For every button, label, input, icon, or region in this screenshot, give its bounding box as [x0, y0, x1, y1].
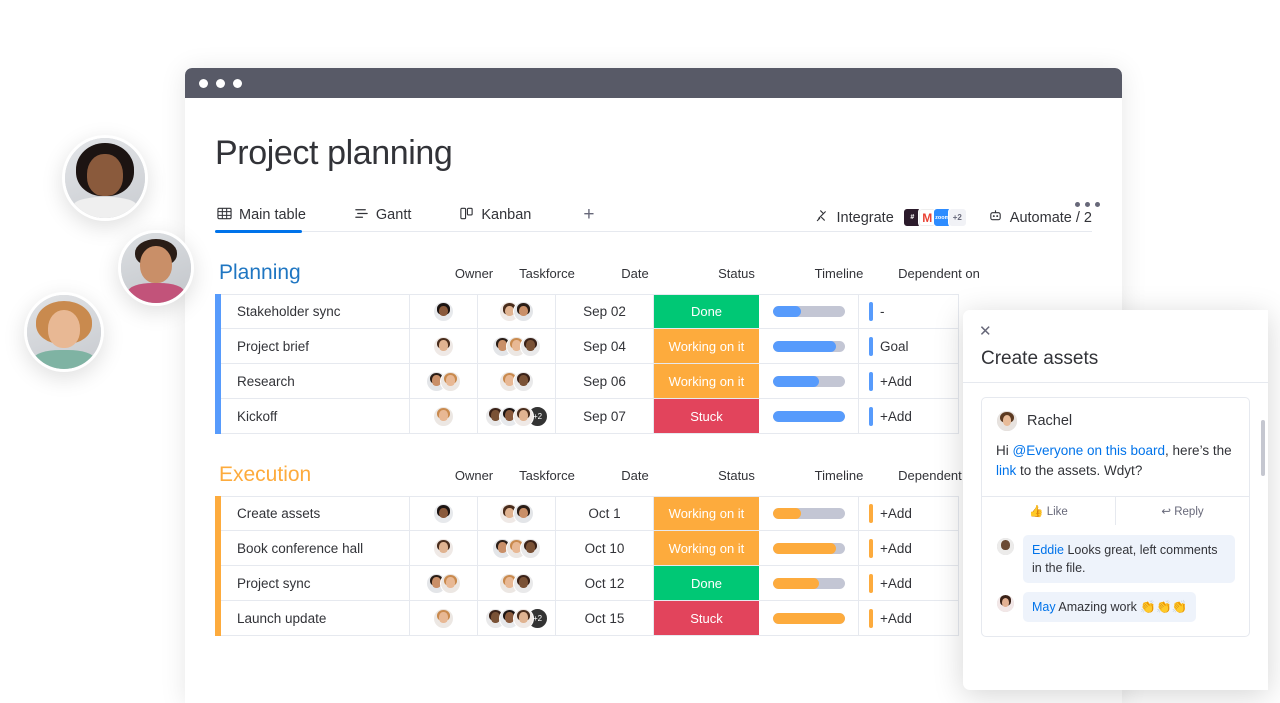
list-item: Eddie Looks great, left comments in the … [996, 535, 1235, 583]
avatar [433, 503, 454, 524]
dependent-value: Goal [880, 339, 909, 354]
row-name[interactable]: Book conference hall [221, 531, 410, 566]
table-row[interactable]: ResearchSep 06Working on it+Add [215, 364, 1092, 399]
divider [963, 382, 1268, 383]
group-header: PlanningOwnerTaskforceDateStatusTimeline… [215, 258, 1092, 288]
avatar [520, 336, 541, 357]
tab-label: Gantt [376, 207, 411, 223]
group-title[interactable]: Execution [215, 463, 440, 487]
column-header-date[interactable]: Date [586, 266, 684, 281]
floating-avatars [0, 0, 230, 400]
cell-date[interactable]: Oct 1 [556, 496, 654, 531]
group-header: ExecutionOwnerTaskforceDateStatusTimelin… [215, 460, 1092, 490]
avatar [433, 336, 454, 357]
table-row[interactable]: Stakeholder syncSep 02Done- [215, 294, 1092, 329]
reply-button[interactable]: ↩ Reply [1115, 497, 1249, 525]
table-row[interactable]: Project syncOct 12Done+Add [215, 566, 1092, 601]
avatar-stack[interactable] [426, 573, 461, 594]
cell-date[interactable]: Oct 10 [556, 531, 654, 566]
group-rows: Stakeholder syncSep 02Done-Project brief… [215, 294, 1092, 434]
cell-taskforce[interactable] [478, 566, 556, 601]
integration-avatars[interactable]: # M zoom +2 [903, 208, 967, 227]
dependency-color-bar [869, 539, 873, 558]
cell-taskforce[interactable]: +2 [478, 399, 556, 434]
row-name[interactable]: Stakeholder sync [221, 294, 410, 329]
cell-owner[interactable] [410, 399, 478, 434]
status-badge[interactable]: Done [654, 566, 759, 601]
cell-owner[interactable] [410, 329, 478, 364]
cell-owner[interactable] [410, 496, 478, 531]
avatar [996, 537, 1015, 556]
thumbs-up-icon: 👍 [1029, 506, 1043, 518]
cell-owner[interactable] [410, 601, 478, 636]
avatar [996, 410, 1018, 432]
replies-list: Eddie Looks great, left comments in the … [982, 525, 1249, 636]
status-badge[interactable]: Working on it [654, 364, 759, 399]
column-header-timeline[interactable]: Timeline [789, 266, 889, 281]
dependency-color-bar [869, 504, 873, 523]
status-badge[interactable]: Working on it [654, 496, 759, 531]
cell-taskforce[interactable] [478, 531, 556, 566]
column-header-taskforce[interactable]: Taskforce [508, 266, 586, 281]
dependency-color-bar [869, 609, 873, 628]
avatar [433, 538, 454, 559]
avatar-stack[interactable] [499, 371, 534, 392]
avatar-stack[interactable] [499, 503, 534, 524]
avatar [433, 608, 454, 629]
kanban-icon [459, 206, 474, 225]
row-name[interactable]: Project sync [221, 566, 410, 601]
post-body: Hi @Everyone on this board, here’s the l… [982, 432, 1249, 496]
avatar-stack[interactable] [433, 503, 454, 524]
tab-label: Main table [239, 207, 306, 223]
table-row[interactable]: Book conference hallOct 10Working on it+… [215, 531, 1092, 566]
timeline-bar [773, 376, 845, 387]
asset-link[interactable]: link [996, 463, 1016, 478]
column-header-status[interactable]: Status [684, 468, 789, 483]
popup-scrollbar[interactable] [1261, 420, 1265, 476]
cell-taskforce[interactable] [478, 496, 556, 531]
reply-label: Reply [1174, 506, 1203, 518]
row-name[interactable]: Kickoff [221, 399, 410, 434]
timeline-bar [773, 613, 845, 624]
avatar-stack[interactable] [433, 301, 454, 322]
reply-text: Amazing work 👏👏👏 [1056, 600, 1187, 614]
view-tabs: Main table Gantt Kanban + [215, 199, 1092, 232]
timeline-bar [773, 508, 845, 519]
column-header-date[interactable]: Date [586, 468, 684, 483]
cell-dependent-on[interactable]: +Add [859, 364, 959, 399]
avatar [513, 608, 534, 629]
dependency-color-bar [869, 372, 873, 391]
avatar [24, 292, 104, 372]
cell-timeline[interactable] [759, 399, 859, 434]
post-text-2: , here’s the [1165, 443, 1232, 458]
column-header-status[interactable]: Status [684, 266, 789, 281]
board-groups: PlanningOwnerTaskforceDateStatusTimeline… [215, 258, 1092, 636]
cell-date[interactable]: Oct 12 [556, 566, 654, 601]
avatar [513, 406, 534, 427]
avatar-stack[interactable] [499, 573, 534, 594]
column-header-dependent-on[interactable]: Dependent on [889, 266, 989, 281]
list-item: May Amazing work 👏👏👏 [996, 592, 1235, 622]
dependent-value: +Add [880, 541, 912, 556]
timeline-bar [773, 411, 845, 422]
page-title: Project planning [215, 134, 1092, 173]
update-post: Rachel Hi @Everyone on this board, here’… [981, 397, 1250, 637]
row-name[interactable]: Launch update [221, 601, 410, 636]
tab-main-table[interactable]: Main table [215, 199, 316, 232]
row-name[interactable]: Create assets [221, 496, 410, 531]
dependent-value: +Add [880, 611, 912, 626]
status-badge[interactable]: Working on it [654, 531, 759, 566]
cell-date[interactable]: Sep 07 [556, 399, 654, 434]
dependent-value: +Add [880, 576, 912, 591]
cell-date[interactable]: Sep 02 [556, 294, 654, 329]
integration-count-badge: +2 [948, 208, 967, 227]
avatar [513, 503, 534, 524]
avatar-stack[interactable] [492, 336, 541, 357]
board-group: ExecutionOwnerTaskforceDateStatusTimelin… [215, 460, 1092, 636]
status-badge[interactable]: Stuck [654, 399, 759, 434]
like-button[interactable]: 👍 Like [982, 497, 1115, 525]
avatar [520, 538, 541, 559]
column-header-owner[interactable]: Owner [440, 468, 508, 483]
automate-button[interactable]: Automate / 2 [988, 208, 1092, 227]
row-name[interactable]: Research [221, 364, 410, 399]
cell-timeline[interactable] [759, 601, 859, 636]
cell-owner[interactable] [410, 531, 478, 566]
avatar-stack[interactable] [492, 538, 541, 559]
status-badge[interactable]: Stuck [654, 601, 759, 636]
table-row[interactable]: Kickoff+2Sep 07Stuck+Add [215, 399, 1092, 434]
timeline-bar [773, 341, 845, 352]
cell-taskforce[interactable]: +2 [478, 601, 556, 636]
avatar [433, 301, 454, 322]
like-label: Like [1047, 506, 1068, 518]
post-text-3: to the assets. Wdyt? [1016, 463, 1142, 478]
timeline-bar [773, 543, 845, 554]
avatar-stack[interactable] [433, 406, 454, 427]
row-name[interactable]: Project brief [221, 329, 410, 364]
avatar-stack[interactable]: +2 [485, 608, 548, 629]
column-header-taskforce[interactable]: Taskforce [508, 468, 586, 483]
avatar [513, 371, 534, 392]
cell-timeline[interactable] [759, 294, 859, 329]
dependency-color-bar [869, 302, 873, 321]
post-text-1: Hi [996, 443, 1013, 458]
close-icon[interactable]: ✕ [979, 324, 992, 339]
avatar-stack[interactable] [433, 336, 454, 357]
avatar [996, 594, 1015, 613]
gantt-icon [354, 206, 369, 225]
reply-arrow-icon: ↩ [1161, 506, 1171, 518]
table-row[interactable]: Project briefSep 04Working on itGoal [215, 329, 1092, 364]
table-row[interactable]: Create assetsOct 1Working on it+Add [215, 496, 1092, 531]
dependent-value: +Add [880, 374, 912, 389]
dependency-color-bar [869, 574, 873, 593]
cell-dependent-on[interactable]: Goal [859, 329, 959, 364]
dependent-value: +Add [880, 409, 912, 424]
cell-taskforce[interactable] [478, 329, 556, 364]
avatar-stack[interactable] [433, 538, 454, 559]
window-titlebar [185, 68, 1122, 98]
dependency-color-bar [869, 407, 873, 426]
column-header-timeline[interactable]: Timeline [789, 468, 889, 483]
reply-bubble: Eddie Looks great, left comments in the … [1023, 535, 1235, 583]
avatar [62, 135, 148, 221]
avatar-stack[interactable] [433, 608, 454, 629]
avatar [440, 371, 461, 392]
group-rows: Create assetsOct 1Working on it+AddBook … [215, 496, 1092, 636]
tab-kanban[interactable]: Kanban [457, 199, 541, 232]
board-group: PlanningOwnerTaskforceDateStatusTimeline… [215, 258, 1092, 434]
dependent-value: - [880, 304, 885, 319]
status-badge[interactable]: Done [654, 294, 759, 329]
cell-dependent-on[interactable]: - [859, 294, 959, 329]
avatar [433, 406, 454, 427]
cell-dependent-on[interactable]: +Add [859, 496, 959, 531]
cell-timeline[interactable] [759, 531, 859, 566]
avatar-stack[interactable]: +2 [485, 406, 548, 427]
integrate-label: Integrate [837, 210, 894, 226]
cell-dependent-on[interactable]: +Add [859, 601, 959, 636]
robot-icon [988, 208, 1003, 227]
cell-owner[interactable] [410, 566, 478, 601]
table-row[interactable]: Launch update+2Oct 15Stuck+Add [215, 601, 1092, 636]
board-toolbar: Integrate # M zoom +2 Automate / 2 [815, 208, 1092, 227]
popup-title: Create assets [981, 348, 1268, 370]
cell-taskforce[interactable] [478, 364, 556, 399]
timeline-bar [773, 306, 845, 317]
cell-taskforce[interactable] [478, 294, 556, 329]
post-author: Rachel [1027, 413, 1072, 429]
cell-owner[interactable] [410, 294, 478, 329]
avatar [513, 301, 534, 322]
mention-link[interactable]: @Everyone on this board [1013, 443, 1166, 458]
avatar [118, 230, 194, 306]
column-header-owner[interactable]: Owner [440, 266, 508, 281]
plug-icon [815, 208, 830, 227]
cell-date[interactable]: Oct 15 [556, 601, 654, 636]
dependent-value: +Add [880, 506, 912, 521]
automate-label: Automate / 2 [1010, 210, 1092, 226]
cell-timeline[interactable] [759, 496, 859, 531]
avatar-stack[interactable] [426, 371, 461, 392]
dependency-color-bar [869, 337, 873, 356]
cell-date[interactable]: Sep 04 [556, 329, 654, 364]
integrate-button[interactable]: Integrate # M zoom +2 [815, 208, 967, 227]
avatar [513, 573, 534, 594]
cell-timeline[interactable] [759, 364, 859, 399]
cell-dependent-on[interactable]: +Add [859, 399, 959, 434]
cell-timeline[interactable] [759, 566, 859, 601]
avatar [440, 573, 461, 594]
add-view-button[interactable]: + [577, 204, 600, 226]
reply-author: May [1032, 600, 1056, 614]
cell-dependent-on[interactable]: +Add [859, 531, 959, 566]
reply-author: Eddie [1032, 543, 1064, 557]
status-badge[interactable]: Working on it [654, 329, 759, 364]
window-dot-icon [233, 79, 242, 88]
group-title[interactable]: Planning [215, 261, 440, 285]
timeline-bar [773, 578, 845, 589]
avatar-stack[interactable] [499, 301, 534, 322]
cell-owner[interactable] [410, 364, 478, 399]
cell-date[interactable]: Sep 06 [556, 364, 654, 399]
item-details-panel: ✕ Create assets Rachel Hi @Everyone on t… [963, 310, 1268, 690]
tab-gantt[interactable]: Gantt [352, 199, 421, 232]
reply-bubble: May Amazing work 👏👏👏 [1023, 592, 1196, 622]
tab-label: Kanban [481, 207, 531, 223]
cell-timeline[interactable] [759, 329, 859, 364]
post-actions: 👍 Like ↩ Reply [982, 496, 1249, 525]
cell-dependent-on[interactable]: +Add [859, 566, 959, 601]
